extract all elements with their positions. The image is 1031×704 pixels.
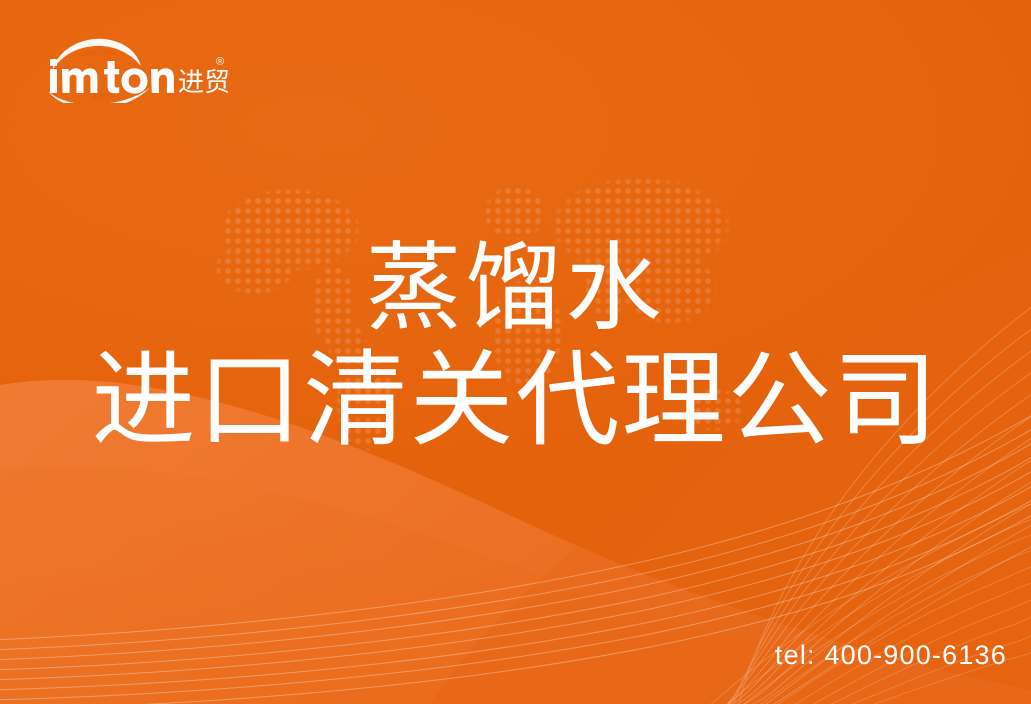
registered-trademark-icon: ®	[216, 56, 224, 68]
headline-line-2: 进口清关代理公司	[0, 342, 1031, 460]
headline-line-1: 蒸馏水	[0, 236, 1031, 342]
globe-arc-icon	[52, 39, 141, 71]
stripe-group-fan-cross	[700, 500, 1031, 704]
brand-logo[interactable]: 进贸通 ®	[38, 33, 228, 103]
brand-logo-svg: 进贸通 ®	[38, 33, 228, 103]
headline-block: 蒸馏水 进口清关代理公司	[0, 236, 1031, 460]
contact-phone[interactable]: tel: 400-900-6136	[775, 640, 1007, 671]
wordmark-imton	[50, 59, 174, 94]
promo-banner: 进贸通 ® 蒸馏水 进口清关代理公司 tel: 400-900-6136	[0, 0, 1031, 704]
logo-chinese-name: 进贸通	[178, 68, 228, 98]
